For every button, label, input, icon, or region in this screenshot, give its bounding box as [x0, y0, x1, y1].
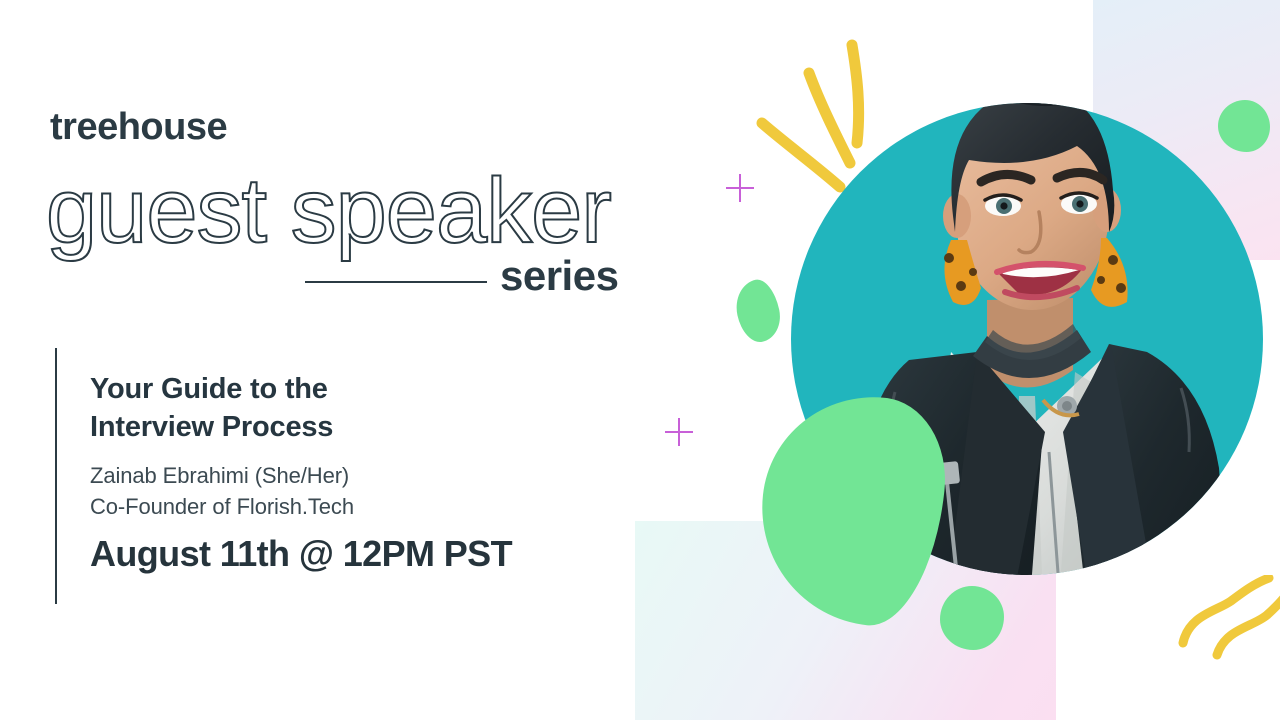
speaker-role: Co-Founder of Florish.Tech — [90, 491, 610, 522]
talk-title: Your Guide to the Interview Process — [90, 370, 610, 447]
talk-title-line-1: Your Guide to the — [90, 370, 610, 408]
talk-title-line-2: Interview Process — [90, 408, 610, 446]
plus-mark-icon — [726, 174, 754, 202]
event-datetime: August 11th @ 12PM PST — [90, 534, 650, 574]
plus-mark-icon — [665, 418, 693, 446]
series-label: series — [500, 255, 618, 297]
green-blob-icon — [940, 586, 1004, 650]
vertical-accent-rule — [55, 348, 57, 604]
svg-text:guest speaker: guest speaker — [46, 160, 611, 262]
green-blob-icon — [1218, 100, 1270, 152]
speaker-name: Zainab Ebrahimi (She/Her) — [90, 460, 610, 491]
brand-wordmark: treehouse — [50, 108, 227, 146]
green-blob-icon — [731, 276, 785, 345]
series-divider — [305, 281, 487, 283]
speaker-block: Zainab Ebrahimi (She/Her) Co-Founder of … — [90, 460, 610, 522]
slide-text-column: treehouse guest speaker series Your Guid… — [0, 0, 660, 720]
slide-canvas: treehouse guest speaker series Your Guid… — [0, 0, 1280, 720]
